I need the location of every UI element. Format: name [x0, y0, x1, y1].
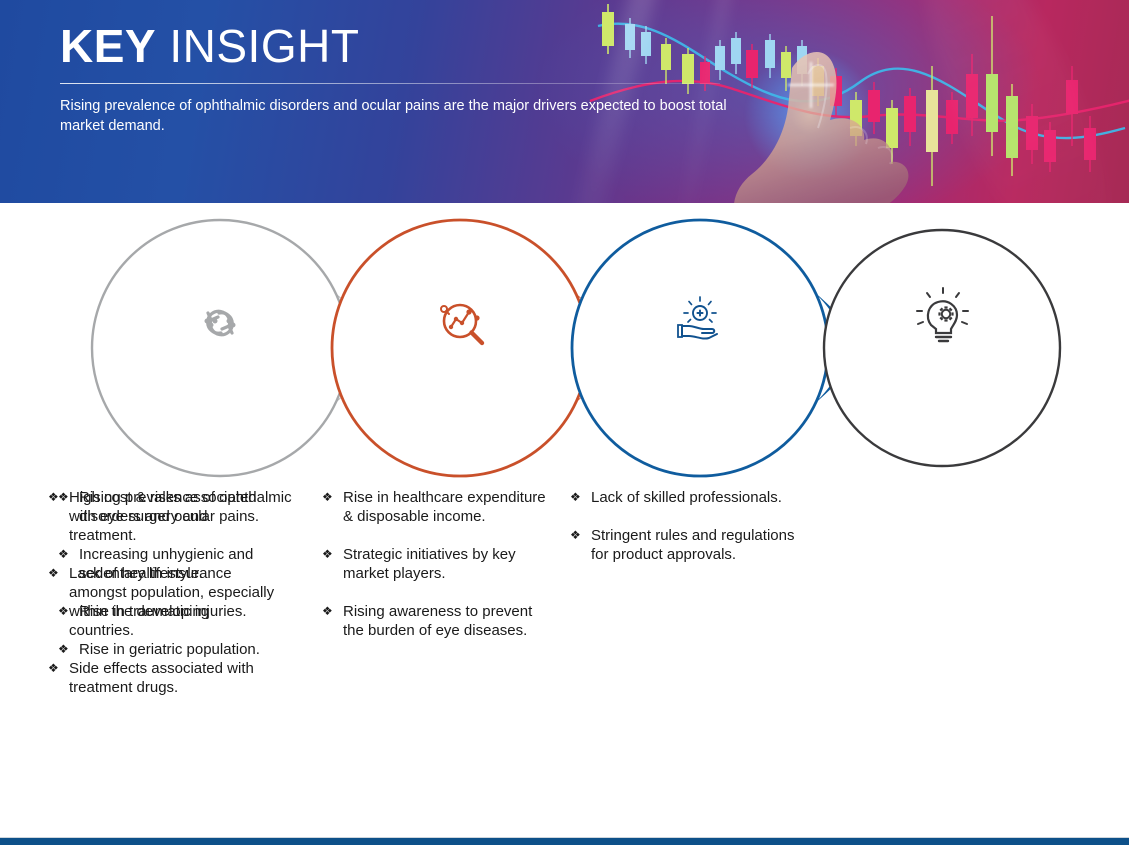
list-item-text: High cost & risks associated with eye su…	[69, 489, 257, 544]
list-item-text: Rise in healthcare expenditure & disposa…	[343, 489, 546, 525]
footer-bar	[0, 837, 1129, 845]
bullet-column-challenges: ❖ Lack of skilled professionals. ❖ Strin…	[570, 488, 800, 583]
bullet-icon: ❖	[48, 488, 59, 506]
list-item-text: Side effects associated with treatment d…	[69, 660, 254, 696]
header-subtitle: Rising prevalence of ophthalmic disorder…	[60, 96, 750, 137]
stage-circle-drivers	[92, 220, 348, 476]
list-item: ❖ Rising awareness to prevent the burden…	[322, 602, 557, 640]
bullet-columns: ❖ Rising prevalence of ophthalmic disord…	[0, 488, 1129, 788]
list-item: ❖ Stringent rules and regulations for pr…	[570, 526, 800, 564]
header-text-block: KEY INSIGHT Rising prevalence of ophthal…	[60, 22, 760, 137]
stage-circle-opportunities	[572, 220, 828, 476]
list-item-text: Rising awareness to prevent the burden o…	[343, 603, 532, 639]
list-item-text: Strategic initiatives by key market play…	[343, 546, 516, 582]
stage-circle-challenges	[824, 230, 1060, 466]
list-item: ❖ Lack of skilled professionals.	[570, 488, 800, 507]
bullet-column-restraints: ❖ High cost & risks associated with eye …	[48, 488, 278, 716]
page-title: KEY INSIGHT	[60, 22, 760, 71]
list-item: ❖ Rise in healthcare expenditure & dispo…	[322, 488, 557, 526]
page-title-bold: KEY	[60, 20, 156, 72]
header-banner: KEY INSIGHT Rising prevalence of ophthal…	[0, 0, 1129, 203]
list-item-text: Stringent rules and regulations for prod…	[591, 527, 794, 563]
sparkle-icon	[788, 62, 834, 108]
key-insight-infographic: KEY INSIGHT Rising prevalence of ophthal…	[0, 0, 1129, 845]
list-item: ❖ Strategic initiatives by key market pl…	[322, 545, 557, 583]
bullet-icon: ❖	[322, 545, 333, 563]
title-divider	[60, 83, 720, 84]
list-item-text: Lack of skilled professionals.	[591, 489, 782, 506]
bullet-icon: ❖	[48, 659, 59, 677]
bullet-icon: ❖	[48, 564, 59, 582]
bullet-icon: ❖	[570, 526, 581, 544]
bullet-column-opportunities: ❖ Rise in healthcare expenditure & dispo…	[322, 488, 557, 659]
stage-flow-diagram: DRIVERS RESTRAINTS	[0, 203, 1129, 493]
stage-circle-restraints	[332, 220, 588, 476]
list-item: ❖ Lack of health insurance amongst popul…	[48, 564, 278, 640]
bullet-icon: ❖	[570, 488, 581, 506]
list-item: ❖ Side effects associated with treatment…	[48, 659, 278, 697]
bullet-icon: ❖	[322, 488, 333, 506]
list-item-text: Lack of health insurance amongst populat…	[69, 565, 274, 639]
list-item: ❖ High cost & risks associated with eye …	[48, 488, 278, 545]
page-title-rest: INSIGHT	[156, 20, 359, 72]
bullet-icon: ❖	[322, 602, 333, 620]
